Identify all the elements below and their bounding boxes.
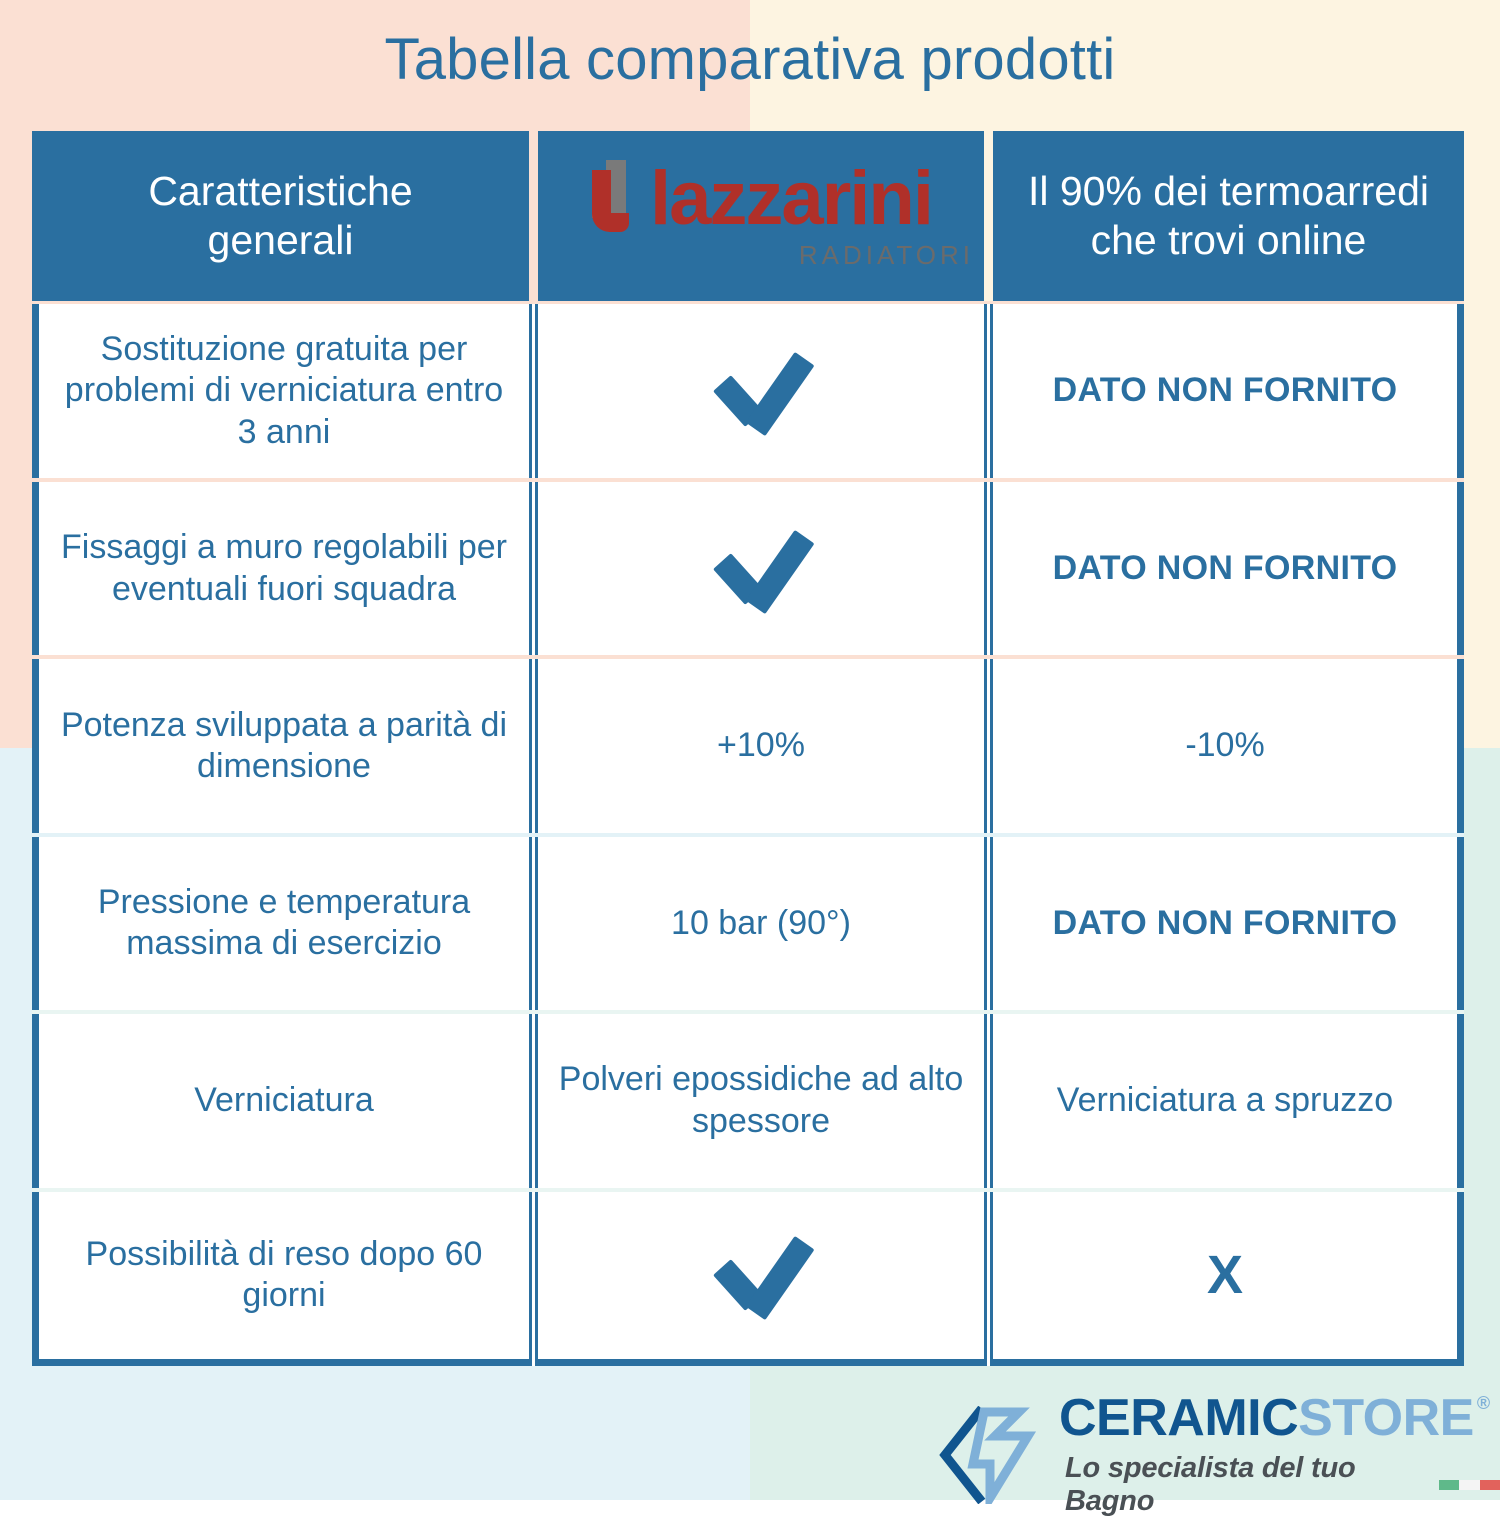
column-separator [984,1192,993,1366]
table-header-row: Caratteristiche generali lazzarini RADIA… [32,131,1464,301]
table-row: Fissaggi a muro regolabili per eventuali… [32,482,1464,655]
lazzarini-sub-wordmark: RADIATORI [799,240,974,271]
column-separator [984,482,993,655]
competitor-value: DATO NON FORNITO [993,837,1464,1010]
flag-green-stripe [1439,1480,1459,1490]
ceramicstore-tagline: Lo specialista del tuo Bagno [1065,1452,1425,1518]
competitor-value: DATO NON FORNITO [993,304,1464,477]
lazzarini-value [538,482,984,655]
header-competitors-line2: che trovi online [1028,216,1429,264]
feature-label: Sostituzione gratuita per problemi di ve… [32,304,529,477]
column-separator [529,837,538,1010]
header-separator-2 [984,131,993,301]
table-row: Potenza sviluppata a parità di dimension… [32,659,1464,832]
page-title: Tabella comparativa prodotti [0,30,1500,91]
competitor-value: -10% [993,659,1464,832]
lazzarini-mark-icon [590,160,640,238]
competitor-value: Verniciatura a spruzzo [993,1014,1464,1187]
lazzarini-value: +10% [538,659,984,832]
column-separator [984,837,993,1010]
column-separator [984,1014,993,1187]
column-separator [984,659,993,832]
ceramicstore-logo: CERAMICSTORE® Lo specialista del tuo Bag… [935,1392,1500,1518]
ceramicstore-tagline-row: Lo specialista del tuo Bagno [1065,1452,1500,1518]
comparison-table: Caratteristiche generali lazzarini RADIA… [32,131,1464,1366]
feature-label: Possibilità di reso dopo 60 giorni [32,1192,529,1366]
header-cell-lazzarini: lazzarini RADIATORI [538,131,984,301]
lazzarini-value: Polveri epossidiche ad alto spessore [538,1014,984,1187]
feature-label: Pressione e temperatura massima di eserc… [32,837,529,1010]
lazzarini-value [538,1192,984,1366]
table-row: Verniciatura Polveri epossidiche ad alto… [32,1014,1464,1187]
column-separator [529,304,538,477]
header-features-line1: Caratteristiche [148,167,412,215]
feature-label: Potenza sviluppata a parità di dimension… [32,659,529,832]
cross-icon: X [1207,1248,1243,1302]
header-cell-features: Caratteristiche generali [32,131,529,301]
lazzarini-value: 10 bar (90°) [538,837,984,1010]
check-icon [709,533,813,605]
lazzarini-mark-red-shape [592,170,611,232]
table-row: Possibilità di reso dopo 60 giorni X [32,1192,1464,1366]
ceramicstore-name: CERAMICSTORE® [1059,1392,1500,1444]
ceramicstore-name-part1: CERAMIC [1059,1392,1298,1444]
header-competitors-line1: Il 90% dei termoarredi [1028,167,1429,215]
feature-label: Verniciatura [32,1014,529,1187]
column-separator [529,482,538,655]
header-cell-competitors: Il 90% dei termoarredi che trovi online [993,131,1464,301]
column-separator [529,1014,538,1187]
header-features-line2: generali [148,216,412,264]
lazzarini-logo: lazzarini RADIATORI [538,131,984,301]
lazzarini-wordmark: lazzarini [650,168,932,230]
check-icon [709,1239,813,1311]
table-row: Sostituzione gratuita per problemi di ve… [32,304,1464,477]
ceramicstore-text: CERAMICSTORE® Lo specialista del tuo Bag… [1059,1392,1500,1518]
column-separator [984,304,993,477]
check-icon [709,355,813,427]
table-row: Pressione e temperatura massima di eserc… [32,837,1464,1010]
registered-mark-icon: ® [1477,1394,1490,1412]
ceramicstore-mark-icon [935,1406,1045,1504]
feature-label: Fissaggi a muro regolabili per eventuali… [32,482,529,655]
lazzarini-value [538,304,984,477]
competitor-value: DATO NON FORNITO [993,482,1464,655]
flag-white-stripe [1459,1480,1479,1490]
flag-red-stripe [1480,1480,1500,1490]
competitor-value: X [993,1192,1464,1366]
italian-flag-icon [1439,1480,1500,1490]
header-separator-1 [529,131,538,301]
ceramicstore-name-part2: STORE [1298,1392,1474,1444]
column-separator [529,1192,538,1366]
column-separator [529,659,538,832]
lazzarini-logo-row: lazzarini [590,160,932,238]
